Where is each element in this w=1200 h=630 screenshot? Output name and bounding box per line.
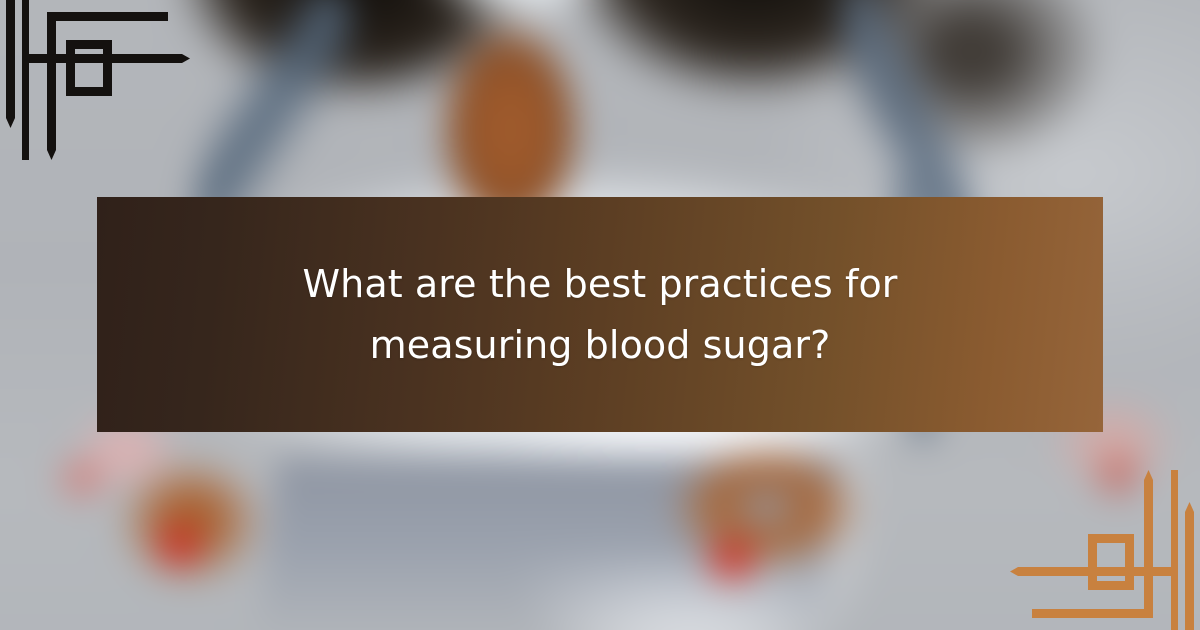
photo-nail-left bbox=[146, 514, 213, 578]
photo-nail-far-left bbox=[50, 450, 114, 507]
photo-nail-right bbox=[696, 528, 768, 592]
social-share-card: What are the best practices for measurin… bbox=[0, 0, 1200, 630]
photo-nail-far-right bbox=[1086, 443, 1150, 507]
page-title: What are the best practices for measurin… bbox=[220, 254, 980, 374]
title-banner: What are the best practices for measurin… bbox=[97, 197, 1103, 432]
